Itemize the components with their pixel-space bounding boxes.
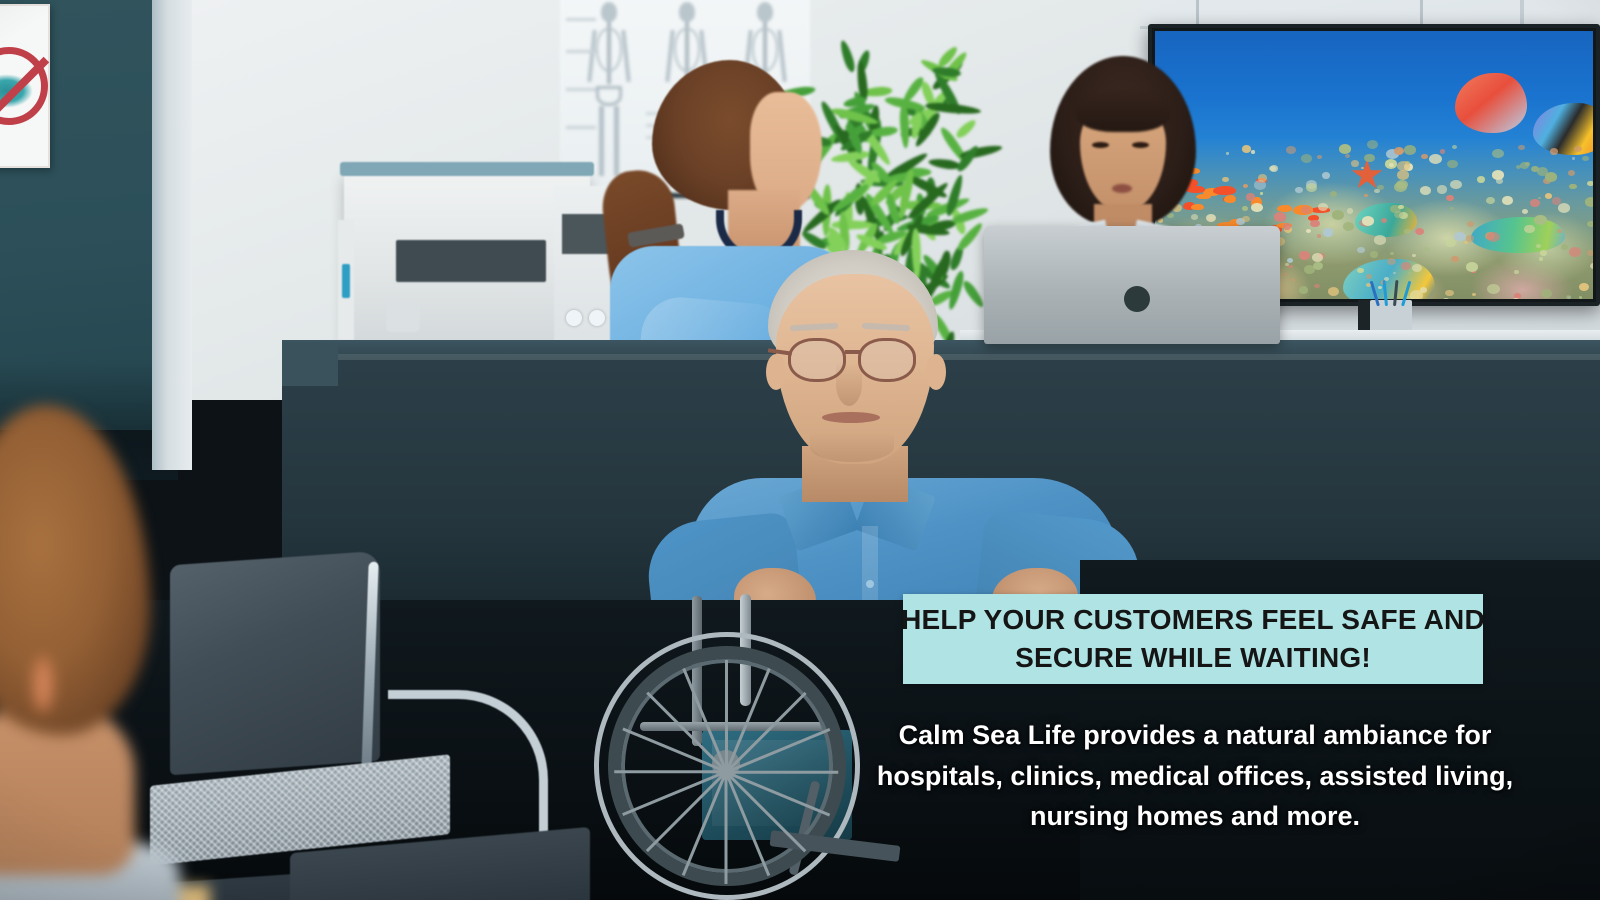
coral-texture [1454, 232, 1466, 242]
coral-texture [1274, 212, 1286, 221]
prohibition-glyph-icon [0, 74, 33, 108]
printer-power-button[interactable] [342, 264, 350, 298]
coral-texture [1557, 229, 1561, 232]
butterflyfish-icon [1533, 103, 1593, 155]
ear [926, 354, 946, 390]
eyeglasses-bridge [845, 350, 861, 354]
chair-backrest [170, 551, 380, 776]
receptionist-bangs [1076, 90, 1170, 132]
coral-texture [1530, 199, 1539, 207]
waiting-chairs [150, 540, 580, 900]
coral-texture [1394, 182, 1407, 192]
coral-texture [1520, 162, 1529, 169]
coral-texture [1450, 207, 1454, 210]
coral-texture [1445, 290, 1453, 297]
coral-texture [1440, 149, 1446, 154]
coral-texture [1364, 194, 1367, 197]
anthias-fish-icon [1277, 205, 1292, 212]
coral-texture [1579, 296, 1582, 299]
coral-texture [1561, 244, 1568, 250]
printer-lid [340, 162, 594, 176]
coral-texture [1401, 262, 1411, 270]
coral-texture [1514, 270, 1519, 274]
coral-texture [1445, 239, 1455, 247]
body-caption: Calm Sea Life provides a natural ambianc… [845, 715, 1545, 837]
coral-texture [1587, 221, 1593, 228]
wheel-spoke [725, 772, 728, 884]
nose [836, 362, 862, 406]
coral-texture [1377, 185, 1384, 190]
coral-texture [1452, 145, 1457, 149]
body-caption-line-1: Calm Sea Life provides a natural ambianc… [845, 715, 1545, 756]
coral-texture [1370, 251, 1378, 257]
coral-texture [1587, 181, 1593, 186]
coral-texture [1322, 172, 1330, 178]
coral-texture [1270, 165, 1279, 172]
coral-texture [1398, 205, 1403, 209]
ear [766, 354, 786, 390]
coral-texture [1318, 203, 1328, 211]
pufferfish-icon [1455, 73, 1527, 133]
printer-output-slot [396, 240, 546, 282]
coral-texture [1420, 186, 1431, 195]
coral-texture [1582, 156, 1588, 161]
coral-texture [1572, 157, 1576, 160]
coral-texture [1323, 228, 1334, 237]
coral-texture [1287, 258, 1293, 263]
coral-texture [1512, 298, 1520, 299]
eyeglasses-lens-right [858, 338, 916, 382]
coral-texture [1587, 250, 1593, 256]
coral-texture [1362, 216, 1374, 226]
coral-texture [1397, 170, 1409, 179]
coral-texture [1347, 208, 1354, 213]
headline-line-1: HELP YOUR CUSTOMERS FEEL SAFE AND [901, 601, 1485, 639]
coral-texture [1286, 146, 1296, 154]
foreground-visitor [0, 405, 180, 900]
coral-texture [1310, 220, 1320, 228]
coral-texture [1357, 247, 1364, 253]
coral-texture [1306, 183, 1317, 192]
coral-texture [1558, 203, 1570, 213]
headline-banner: HELP YOUR CUSTOMERS FEEL SAFE AND SECURE… [903, 594, 1483, 684]
body-caption-line-3: nursing homes and more. [845, 796, 1545, 837]
plant-leaf [955, 117, 979, 139]
coral-texture [1467, 221, 1474, 227]
coral-texture [1357, 268, 1364, 274]
wheel-spoke [725, 660, 728, 772]
wall-corner-strip [152, 0, 192, 470]
coral-texture [1437, 185, 1448, 194]
coral-texture [1242, 206, 1248, 211]
coral-texture [1351, 160, 1359, 167]
mouth [1112, 184, 1132, 193]
coral-texture [1446, 195, 1454, 201]
coral-texture [1251, 150, 1255, 153]
prohibition-ring-icon [0, 47, 48, 125]
coral-texture [1242, 145, 1251, 152]
coral-texture [1423, 247, 1429, 252]
printer-panel [386, 302, 420, 332]
eye [1132, 142, 1149, 148]
coral-texture [1487, 284, 1500, 294]
chin-shadow [810, 432, 894, 462]
coral-texture [1283, 273, 1287, 277]
coral-texture [1450, 180, 1461, 189]
coral-texture [1339, 144, 1351, 153]
coral-texture [1487, 232, 1500, 242]
coral-texture [1408, 272, 1411, 275]
coral-texture [1317, 155, 1322, 159]
visitor-hair [0, 405, 150, 735]
coral-texture [1374, 235, 1386, 244]
headline-line-2: SECURE WHILE WAITING! [1015, 639, 1371, 677]
coral-texture [1566, 295, 1571, 299]
eye [1092, 142, 1109, 148]
coral-texture [1585, 197, 1593, 206]
coral-texture [1540, 250, 1547, 255]
coral-texture [1260, 192, 1264, 195]
promo-scene: HELP YOUR CUSTOMERS FEEL SAFE AND SECURE… [0, 0, 1600, 900]
coral-texture [1361, 167, 1364, 170]
coral-texture [1299, 286, 1308, 293]
coral-texture [1466, 262, 1478, 272]
coral-texture [1502, 196, 1513, 204]
body-caption-line-2: hospitals, clinics, medical offices, ass… [845, 756, 1545, 797]
no-smoking-sign [0, 4, 50, 168]
coral-texture [1295, 187, 1302, 193]
coral-texture [1314, 284, 1320, 289]
wheel-spoke [726, 771, 838, 774]
coral-texture [1447, 160, 1457, 168]
coral-texture [1330, 191, 1337, 197]
visitor-ear [32, 655, 54, 713]
coral-texture [1299, 251, 1310, 259]
coral-texture [1477, 176, 1485, 183]
coral-texture [1421, 154, 1427, 159]
coral-texture [1569, 184, 1576, 190]
coral-texture [1534, 215, 1547, 225]
mouth [822, 412, 880, 423]
desk-side-panel [282, 342, 338, 386]
wheel-spoke [614, 771, 726, 774]
coral-texture [1258, 174, 1267, 182]
coral-texture [1317, 234, 1321, 237]
coral-texture [1313, 262, 1323, 270]
coral-texture [1242, 216, 1249, 222]
